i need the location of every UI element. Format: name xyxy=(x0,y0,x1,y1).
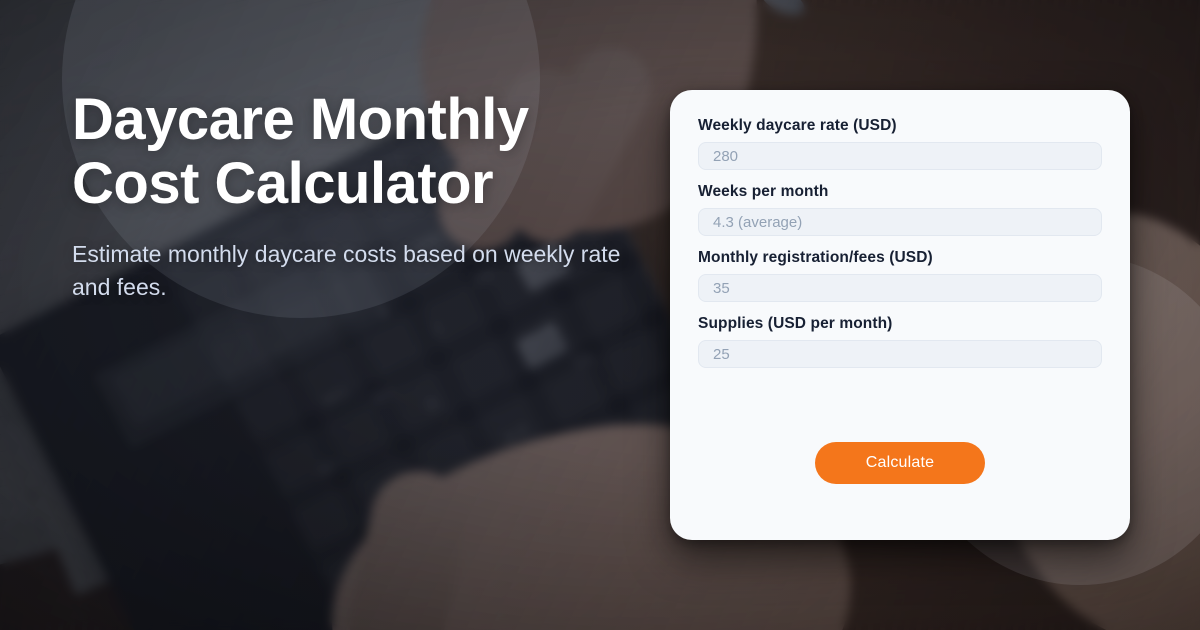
field-label-monthly-registration-fees: Monthly registration/fees (USD) xyxy=(698,248,1102,268)
field-weekly-daycare-rate: Weekly daycare rate (USD) xyxy=(698,116,1102,170)
input-weeks-per-month[interactable] xyxy=(698,208,1102,236)
field-label-supplies: Supplies (USD per month) xyxy=(698,314,1102,334)
field-label-weekly-daycare-rate: Weekly daycare rate (USD) xyxy=(698,116,1102,136)
field-supplies: Supplies (USD per month) xyxy=(698,314,1102,368)
field-monthly-registration-fees: Monthly registration/fees (USD) xyxy=(698,248,1102,302)
field-weeks-per-month: Weeks per month xyxy=(698,182,1102,236)
page-title: Daycare Monthly Cost Calculator xyxy=(72,88,652,216)
field-label-weeks-per-month: Weeks per month xyxy=(698,182,1102,202)
calculate-button[interactable]: Calculate xyxy=(815,442,985,484)
input-monthly-registration-fees[interactable] xyxy=(698,274,1102,302)
calculator-card: Weekly daycare rate (USD) Weeks per mont… xyxy=(670,90,1130,540)
input-weekly-daycare-rate[interactable] xyxy=(698,142,1102,170)
hero-section: Daycare Monthly Cost Calculator Estimate… xyxy=(72,88,652,304)
page-subtitle: Estimate monthly daycare costs based on … xyxy=(72,238,642,304)
input-supplies[interactable] xyxy=(698,340,1102,368)
card-actions: Calculate xyxy=(698,442,1102,540)
